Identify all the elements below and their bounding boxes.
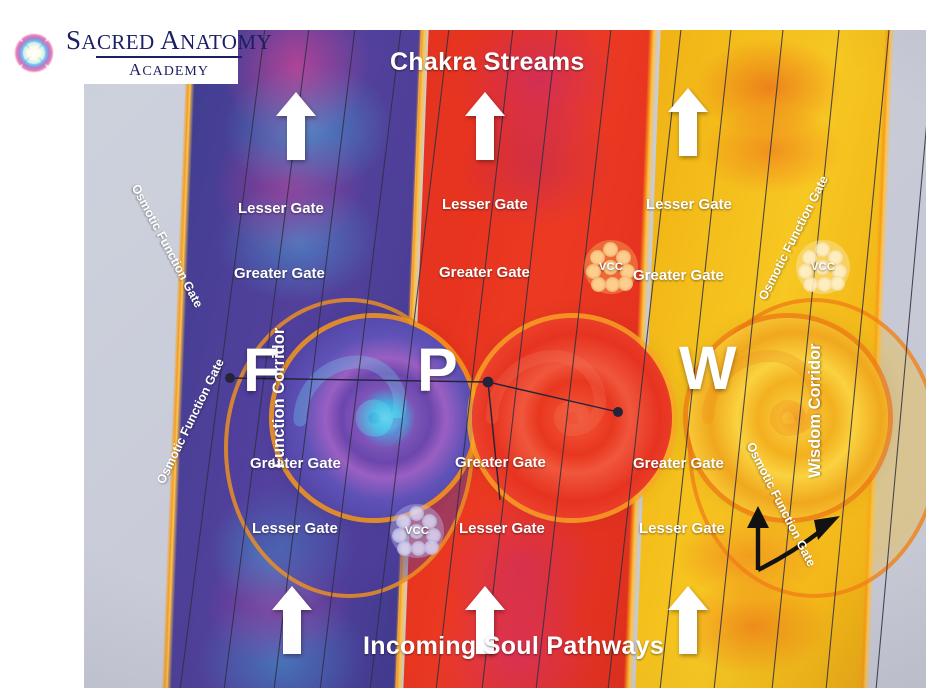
vcc-label: VCC — [390, 525, 444, 537]
prismatic-starburst-logo-icon — [8, 27, 60, 79]
wisdom-glyph: W — [679, 338, 737, 399]
vcc-label: VCC — [796, 261, 850, 273]
gate-label-power-bottom-greater: Greater Gate — [455, 454, 546, 471]
chakra-stream-arrow-wisdom — [668, 88, 708, 156]
vcc-node-wisdom[interactable]: VCC — [796, 240, 850, 294]
brand-name-line1: SACRED ANATOMY — [66, 26, 272, 54]
vcc-node-function[interactable]: VCC — [390, 504, 444, 558]
gate-label-wisdom-top-lesser: Lesser Gate — [646, 196, 732, 213]
vcc-node-power[interactable]: VCC — [584, 240, 638, 294]
chakra-streams-title: Chakra Streams — [390, 48, 585, 77]
chakra-stream-arrow-function — [276, 92, 316, 160]
brand-logo[interactable]: SACRED ANATOMY ACADEMY — [0, 22, 238, 84]
gate-label-wisdom-top-greater: Greater Gate — [633, 267, 724, 284]
vcc-label: VCC — [584, 261, 638, 273]
poster-photo: VCC VCC — [84, 30, 926, 688]
gate-label-function-bottom-greater: Greater Gate — [250, 455, 341, 472]
diagram-canvas: VCC VCC — [0, 0, 926, 695]
wisdom-corridor-label: Wisdom Corridor — [806, 343, 825, 478]
gate-label-power-bottom-lesser: Lesser Gate — [459, 520, 545, 537]
power-chakra-disc[interactable] — [472, 318, 672, 518]
brand-logo-text: SACRED ANATOMY ACADEMY — [66, 26, 272, 80]
gate-label-power-top-greater: Greater Gate — [439, 264, 530, 281]
gate-label-function-bottom-lesser: Lesser Gate — [252, 520, 338, 537]
soul-pathway-arrow-wisdom — [668, 586, 708, 654]
power-glyph: P — [417, 340, 458, 401]
gate-label-wisdom-bottom-greater: Greater Gate — [633, 455, 724, 472]
gate-label-function-top-lesser: Lesser Gate — [238, 200, 324, 217]
soul-pathway-arrow-function — [272, 586, 312, 654]
gate-label-function-top-greater: Greater Gate — [234, 265, 325, 282]
incoming-soul-pathways-title: Incoming Soul Pathways — [363, 632, 664, 661]
chakra-stream-arrow-power — [465, 92, 505, 160]
brand-divider — [96, 56, 242, 58]
gate-label-wisdom-bottom-lesser: Lesser Gate — [639, 520, 725, 537]
gate-label-power-top-lesser: Lesser Gate — [442, 196, 528, 213]
function-corridor-label: Function Corridor — [270, 328, 289, 468]
power-spiral-icon — [472, 318, 672, 518]
brand-name-line2: ACADEMY — [129, 60, 209, 80]
